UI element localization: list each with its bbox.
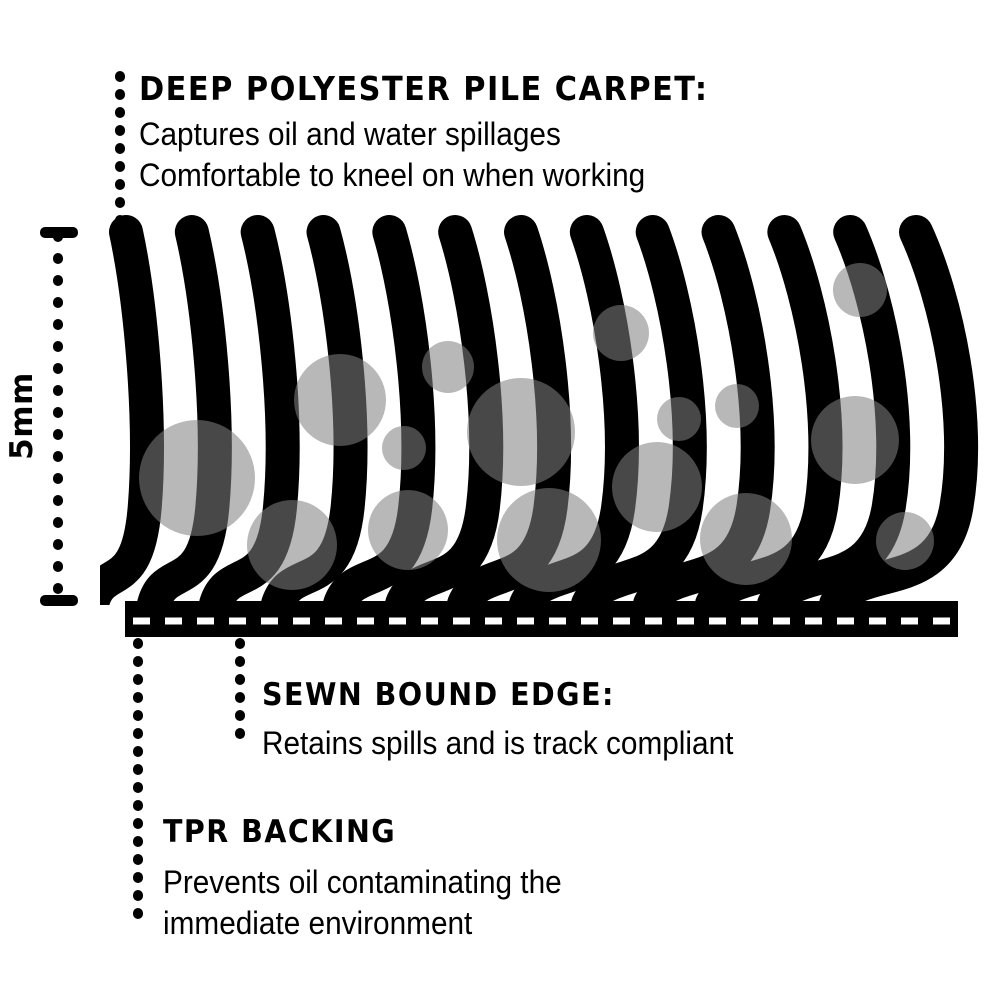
callout-tpr-line-1: Prevents oil contaminating the bbox=[163, 862, 562, 903]
spill-droplet bbox=[368, 490, 448, 570]
spill-droplet bbox=[467, 378, 575, 486]
spill-droplet bbox=[612, 442, 702, 532]
spill-droplet bbox=[715, 384, 759, 428]
spill-droplet bbox=[497, 488, 601, 592]
callout-sewn-title: SEWN BOUND EDGE: bbox=[262, 680, 728, 711]
spill-droplet bbox=[294, 354, 386, 446]
callout-tpr-title: TPR BACKING bbox=[163, 817, 557, 848]
callout-tpr-backing: TPR BACKING Prevents oil contaminating t… bbox=[163, 817, 592, 944]
spill-droplet bbox=[833, 263, 887, 317]
dimension-line-5mm bbox=[40, 227, 78, 606]
dimension-label-5mm: 5mm bbox=[4, 368, 40, 464]
spill-droplet bbox=[422, 341, 474, 393]
tpr-backing-bar bbox=[125, 601, 958, 637]
spill-droplet bbox=[700, 493, 792, 585]
spill-droplet bbox=[811, 396, 899, 484]
callout-sewn-line-1: Retains spills and is track compliant bbox=[262, 723, 733, 764]
callout-pile-line-1: Captures oil and water spillages bbox=[139, 114, 715, 155]
spill-droplet bbox=[876, 512, 934, 570]
callout-tpr-line-2: immediate environment bbox=[163, 903, 562, 944]
dimension-tick-bottom bbox=[40, 595, 78, 606]
spill-droplet bbox=[593, 305, 649, 361]
spill-droplet bbox=[382, 426, 426, 470]
spill-droplet bbox=[139, 420, 255, 536]
carpet-fiber bbox=[92, 232, 147, 604]
callout-sewn-bound-edge: SEWN BOUND EDGE: Retains spills and is t… bbox=[262, 680, 769, 764]
callout-pile-line-2: Comfortable to kneel on when working bbox=[139, 155, 715, 196]
diagram-canvas: 5mm DEEP POLYESTER PILE CARPET: Captures… bbox=[0, 0, 1000, 1000]
spill-droplet bbox=[247, 500, 337, 590]
callout-pile-title: DEEP POLYESTER PILE CARPET: bbox=[139, 72, 708, 105]
callout-deep-polyester-pile: DEEP POLYESTER PILE CARPET: Captures oil… bbox=[139, 72, 758, 196]
spill-droplet bbox=[657, 397, 701, 441]
